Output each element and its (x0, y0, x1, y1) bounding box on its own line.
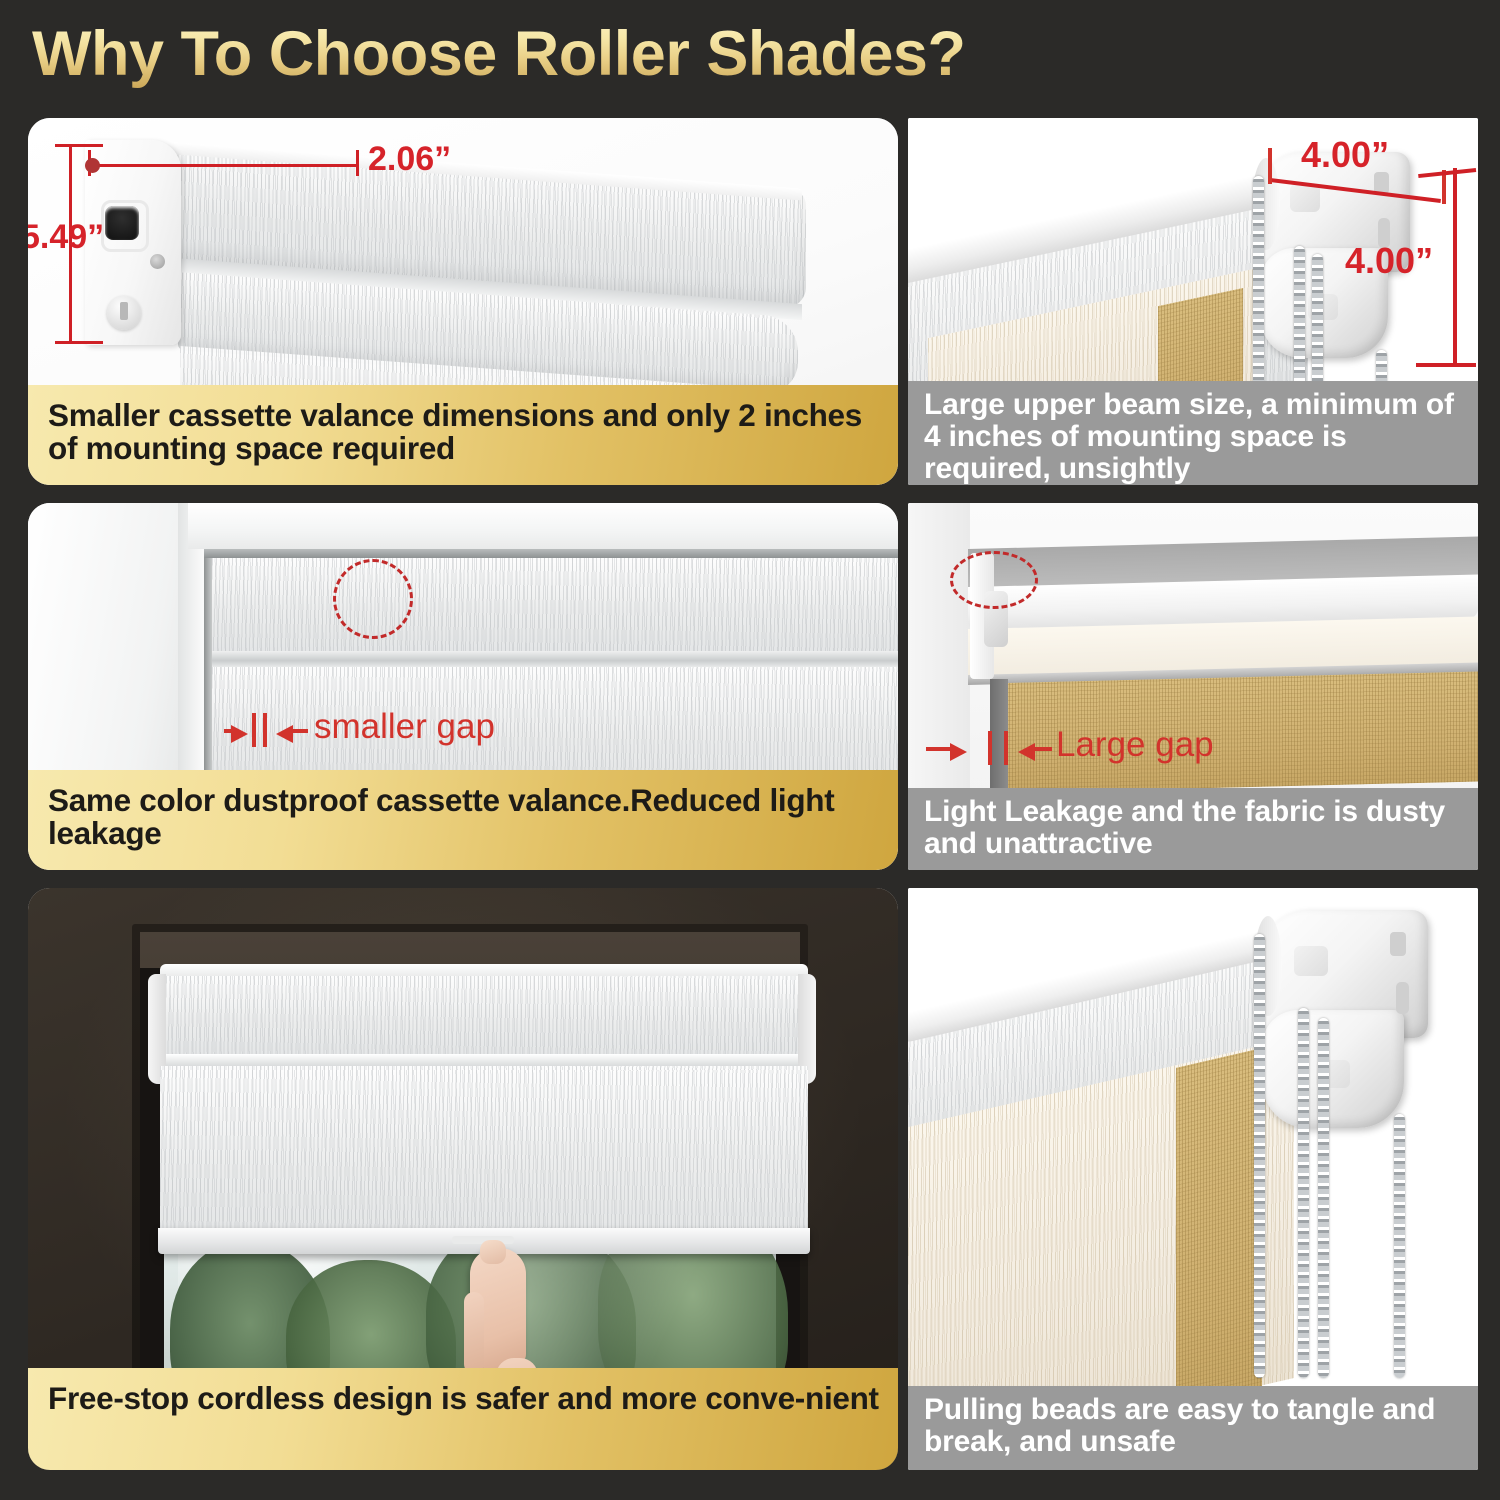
panel-caption-con-beam-size: Large upper beam size, a minimum of 4 in… (908, 381, 1478, 485)
bead-chain (1298, 1008, 1309, 1378)
bead-chain (1254, 934, 1265, 1378)
width-dimension-label: 2.06” (368, 140, 451, 179)
beam-width-dimension-label: 4.00” (1301, 134, 1389, 176)
title-bar: Why To Choose Roller Shades? (0, 0, 1500, 108)
large-gap-label: Large gap (1056, 725, 1214, 765)
page-title: Why To Choose Roller Shades? (32, 18, 965, 90)
pull-bead-shade-photo (908, 888, 1478, 1470)
panel-pro-smaller-gap: smaller gap Same color dustproof cassett… (28, 503, 898, 870)
panel-con-pull-beads: Pulling beads are easy to tangle and bre… (908, 888, 1478, 1470)
smaller-gap-label: smaller gap (314, 707, 495, 747)
height-dimension-label: 5.49” (28, 218, 104, 257)
width-dimension-line (88, 164, 358, 167)
bead-chain (1318, 1018, 1329, 1378)
gap-highlight-circle (950, 551, 1038, 609)
beam-height-dimension-line (1453, 168, 1457, 366)
panel-caption-con-large-gap: Light Leakage and the fabric is dusty an… (908, 788, 1478, 870)
panel-caption-pro-cassette-size: Smaller cassette valance dimensions and … (28, 385, 898, 485)
gap-highlight-circle (333, 559, 413, 639)
panel-pro-cassette-size: 5.49” 2.06” Smaller cassette valance dim… (28, 118, 898, 485)
panel-caption-pro-smaller-gap: Same color dustproof cassette valance.Re… (28, 770, 898, 870)
bead-chain (1394, 1114, 1405, 1378)
panel-caption-con-pull-beads: Pulling beads are easy to tangle and bre… (908, 1386, 1478, 1470)
panel-pro-cordless: Free-stop cordless design is safer and m… (28, 888, 898, 1470)
panel-con-beam-size: 4.00” 4.00” Large upper beam size, a min… (908, 118, 1478, 485)
panel-caption-pro-cordless: Free-stop cordless design is safer and m… (28, 1368, 898, 1470)
beam-height-dimension-label: 4.00” (1345, 240, 1433, 282)
panel-con-large-gap: Large gap Light Leakage and the fabric i… (908, 503, 1478, 870)
